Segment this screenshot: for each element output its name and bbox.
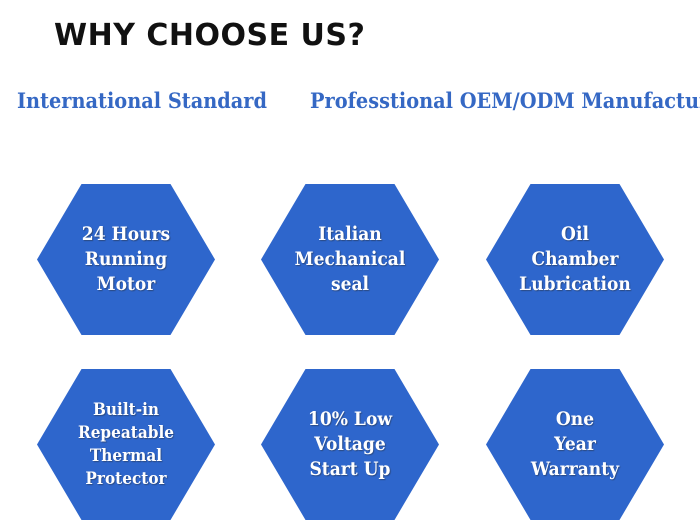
feature-hexagon-grid: 24 Hours Running Motor Italian Mechanica… (0, 0, 700, 528)
feature-label: Built-in Repeatable Thermal Protector (46, 369, 206, 520)
feature-hexagon-one-year-warranty: One Year Warranty (486, 369, 664, 520)
feature-hexagon-built-in-repeatable-thermal-protector: Built-in Repeatable Thermal Protector (37, 369, 215, 520)
feature-label: Italian Mechanical seal (270, 184, 430, 335)
feature-label: 10% Low Voltage Start Up (270, 369, 430, 520)
feature-label: Oil Chamber Lubrication (495, 184, 655, 335)
feature-hexagon-10-percent-low-voltage-start-up: 10% Low Voltage Start Up (261, 369, 439, 520)
feature-hexagon-oil-chamber-lubrication: Oil Chamber Lubrication (486, 184, 664, 335)
feature-hexagon-24-hours-running-motor: 24 Hours Running Motor (37, 184, 215, 335)
feature-label: One Year Warranty (495, 369, 655, 520)
feature-label: 24 Hours Running Motor (46, 184, 206, 335)
feature-hexagon-italian-mechanical-seal: Italian Mechanical seal (261, 184, 439, 335)
